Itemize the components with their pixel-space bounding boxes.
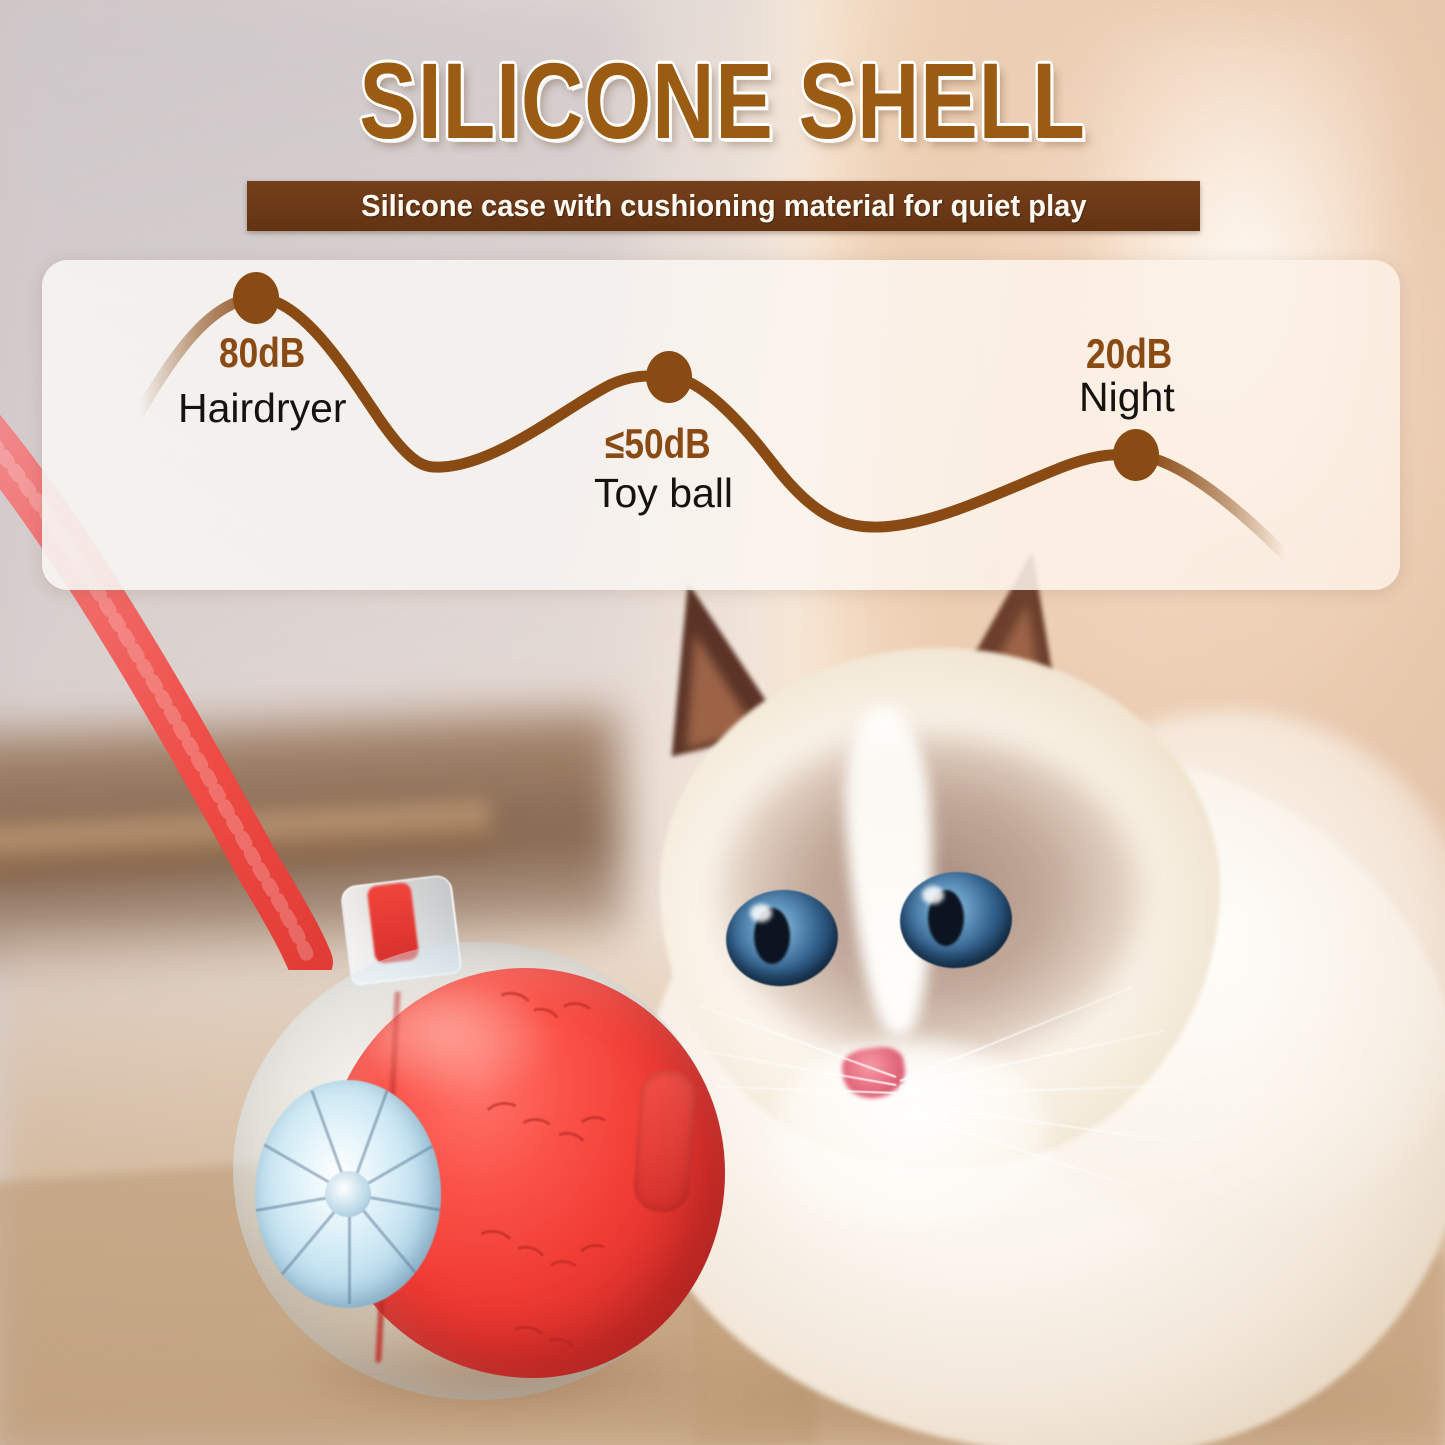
subtitle-text: Silicone case with cushioning material f… [361,188,1086,224]
cat-ball-toy [225,880,745,1400]
cat-eye-glint-right [922,886,944,904]
cat-eye-glint-left [750,904,772,922]
ball-wheel-window [255,1080,441,1308]
ball-wheel-hub [325,1171,371,1217]
ball-power-button[interactable] [632,1068,698,1214]
name-label-hairdryer: Hairdryer [178,385,347,432]
db-label-toyball: ≤50dB [605,420,711,468]
subtitle-banner: Silicone case with cushioning material f… [247,181,1200,231]
name-label-toyball: Toy ball [594,470,733,517]
name-label-night: Night [1079,374,1175,421]
page-title: SILICONE SHELL [145,44,1301,158]
db-label-night: 20dB [1086,330,1172,378]
product-infographic: 80dB Hairdryer ≤50dB Toy ball 20dB Night… [0,0,1445,1445]
db-label-hairdryer: 80dB [219,329,305,377]
